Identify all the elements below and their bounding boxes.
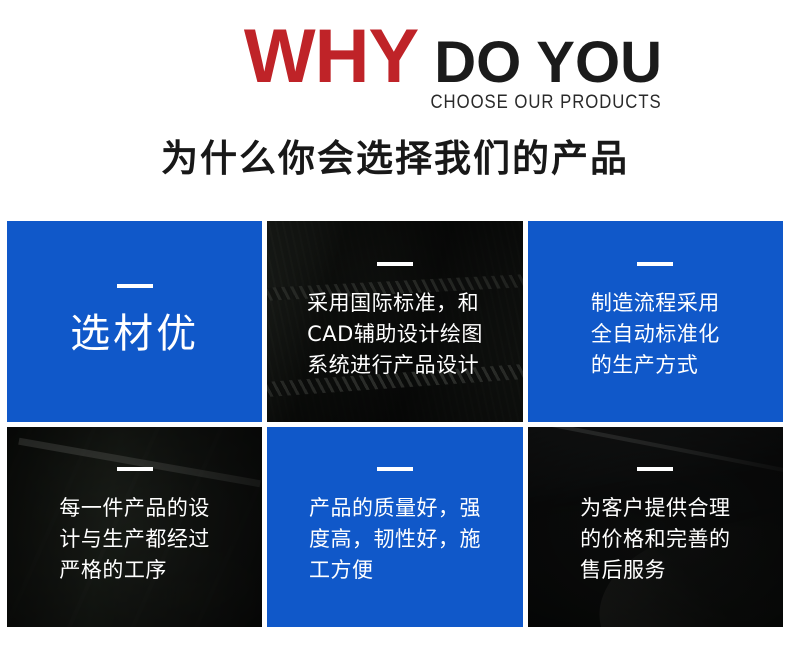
feature-card-1[interactable]: 选材优 [7, 221, 262, 422]
divider-line-icon [377, 467, 413, 471]
feature-card-4[interactable]: 每一件产品的设 计与生产都经过 严格的工序 [7, 427, 262, 628]
feature-card-5-text: 产品的质量好，强 度高，韧性好，施 工方便 [309, 493, 481, 586]
headline-word-why: WHY [244, 18, 418, 96]
divider-line-icon [117, 467, 153, 471]
divider-line-icon [377, 262, 413, 266]
feature-card-3[interactable]: 制造流程采用 全自动标准化 的生产方式 [528, 221, 783, 422]
feature-card-5-content: 产品的质量好，强 度高，韧性好，施 工方便 [267, 467, 522, 586]
feature-card-2[interactable]: 采用国际标准，和 CAD辅助设计绘图 系统进行产品设计 [267, 221, 522, 422]
headline-word-doyou: DO YOU [434, 24, 662, 102]
promo-page: WHY DO YOU CHOOSE OUR PRODUCTS 为什么你会选择我们… [0, 0, 790, 665]
feature-card-1-content: 选材优 [7, 284, 262, 358]
divider-line-icon [117, 284, 153, 288]
headline-inner: WHY DO YOU [244, 18, 662, 102]
feature-card-4-content: 每一件产品的设 计与生产都经过 严格的工序 [7, 467, 262, 586]
feature-card-3-content: 制造流程采用 全自动标准化 的生产方式 [528, 262, 783, 381]
feature-card-5[interactable]: 产品的质量好，强 度高，韧性好，施 工方便 [267, 427, 522, 628]
divider-line-icon [637, 467, 673, 471]
feature-card-1-text: 选材优 [70, 310, 199, 358]
headline-row: WHY DO YOU [0, 18, 790, 93]
feature-card-2-text: 采用国际标准，和 CAD辅助设计绘图 系统进行产品设计 [307, 288, 483, 381]
feature-grid: 选材优 采用国际标准，和 CAD辅助设计绘图 系统进行产品设计 制造流程采用 全… [7, 221, 783, 627]
feature-card-4-text: 每一件产品的设 计与生产都经过 严格的工序 [59, 493, 210, 586]
feature-card-2-content: 采用国际标准，和 CAD辅助设计绘图 系统进行产品设计 [267, 262, 522, 381]
feature-card-6[interactable]: 为客户提供合理 的价格和完善的 售后服务 [528, 427, 783, 628]
divider-line-icon [637, 262, 673, 266]
feature-card-6-text: 为客户提供合理 的价格和完善的 售后服务 [580, 493, 731, 586]
header-banner: WHY DO YOU CHOOSE OUR PRODUCTS 为什么你会选择我们… [0, 0, 790, 215]
headline-subtitle-english: CHOOSE OUR PRODUCTS [431, 92, 662, 114]
feature-card-6-content: 为客户提供合理 的价格和完善的 售后服务 [528, 467, 783, 586]
headline-subtitle-chinese: 为什么你会选择我们的产品 [0, 128, 790, 182]
feature-card-3-text: 制造流程采用 全自动标准化 的生产方式 [591, 288, 720, 381]
